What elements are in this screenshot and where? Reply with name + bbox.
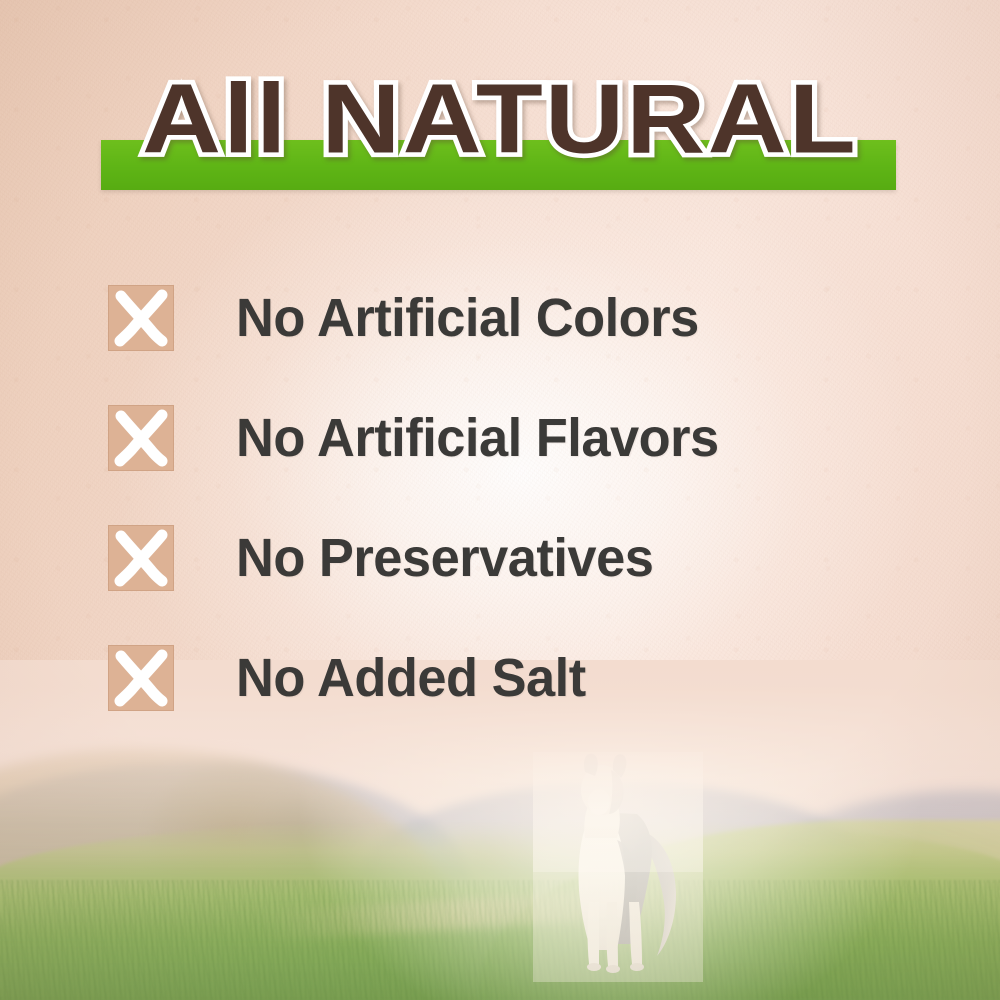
list-item-label: No Added Salt	[236, 651, 586, 705]
x-mark-icon	[108, 525, 174, 591]
list-item: No Added Salt	[108, 618, 918, 738]
x-mark-icon	[108, 405, 174, 471]
feature-checklist: No Artificial Colors No Artificial Flavo…	[108, 258, 918, 738]
checkbox-no-artificial-flavors[interactable]	[108, 405, 174, 471]
all-natural-product-poster: All NATURAL No Artificial Colors No Arti…	[0, 0, 1000, 1000]
page-title: All NATURAL	[0, 71, 1000, 169]
grass-blade-texture	[0, 880, 1000, 1000]
checkbox-no-preservatives[interactable]	[108, 525, 174, 591]
list-item-label: No Preservatives	[236, 531, 653, 585]
checkbox-no-artificial-colors[interactable]	[108, 285, 174, 351]
checkbox-no-added-salt[interactable]	[108, 645, 174, 711]
list-item: No Preservatives	[108, 498, 918, 618]
list-item: No Artificial Flavors	[108, 378, 918, 498]
x-mark-icon	[108, 645, 174, 711]
list-item-label: No Artificial Colors	[236, 291, 699, 345]
list-item: No Artificial Colors	[108, 258, 918, 378]
dog-figure	[533, 752, 703, 982]
x-mark-icon	[108, 285, 174, 351]
list-item-label: No Artificial Flavors	[236, 411, 719, 465]
